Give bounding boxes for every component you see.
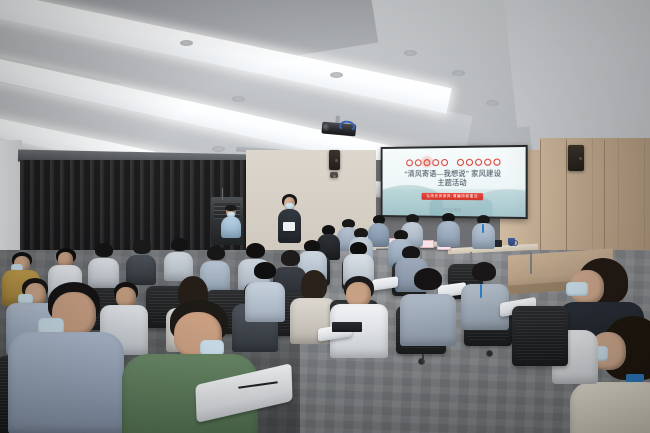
chair-base — [422, 354, 424, 362]
hair — [281, 250, 300, 266]
torso — [437, 221, 460, 247]
wall-speaker — [568, 145, 584, 171]
hair — [254, 262, 276, 279]
coffee-mug — [508, 238, 515, 246]
head — [116, 287, 136, 307]
slide-decor-dot-group — [456, 158, 500, 165]
hair — [133, 240, 151, 254]
ceiling-projector — [321, 119, 356, 137]
hair — [246, 243, 265, 258]
conference-room-photo: “清风寄语—我想说” 家风建设 主题活动 弘扬优良家风·清廉持家建设 纪检监察组 — [0, 0, 650, 433]
downlight — [452, 70, 465, 76]
downlight — [330, 72, 343, 78]
ceiling — [0, 0, 650, 160]
notebook — [332, 322, 362, 332]
torso — [88, 258, 119, 288]
table-leg — [530, 252, 532, 274]
lanyard — [480, 284, 482, 298]
lanyard — [482, 224, 484, 233]
torso — [221, 216, 241, 238]
slide-title-line2: 主题活动 — [388, 179, 520, 188]
hair — [95, 243, 113, 257]
hair — [207, 246, 225, 260]
hair — [225, 205, 237, 211]
torso — [570, 382, 650, 433]
projection-screen: “清风寄语—我想说” 家风建设 主题活动 弘扬优良家风·清廉持家建设 纪检监察组 — [383, 147, 526, 217]
chair-caster — [486, 350, 493, 357]
hair — [472, 262, 496, 281]
hair — [414, 268, 442, 290]
printed-script — [283, 222, 295, 231]
downlight — [486, 100, 499, 106]
projection-screen-frame: “清风寄语—我想说” 家风建设 主题活动 弘扬优良家风·清廉持家建设 纪检监察组 — [381, 145, 528, 219]
hair — [171, 238, 188, 251]
wall-speaker — [329, 150, 340, 170]
chair — [512, 306, 568, 366]
wall-speaker — [330, 172, 338, 178]
downlight — [212, 146, 225, 152]
slide-red-banner: 弘扬优良家风·清廉持家建设 — [422, 193, 484, 200]
microphone-stand — [222, 188, 223, 200]
slide-title: “清风寄语—我想说” 家风建设 主题活动 — [388, 170, 520, 188]
downlight — [232, 96, 245, 102]
slide-decor-dot-group — [406, 159, 448, 166]
torso — [8, 332, 124, 433]
downlight — [180, 40, 193, 46]
hair — [301, 270, 327, 300]
torso — [126, 255, 156, 285]
torso — [400, 294, 456, 346]
downlight — [404, 50, 417, 56]
torso — [245, 282, 285, 322]
face-mask — [566, 282, 588, 296]
slide-decor-dots — [383, 158, 526, 166]
